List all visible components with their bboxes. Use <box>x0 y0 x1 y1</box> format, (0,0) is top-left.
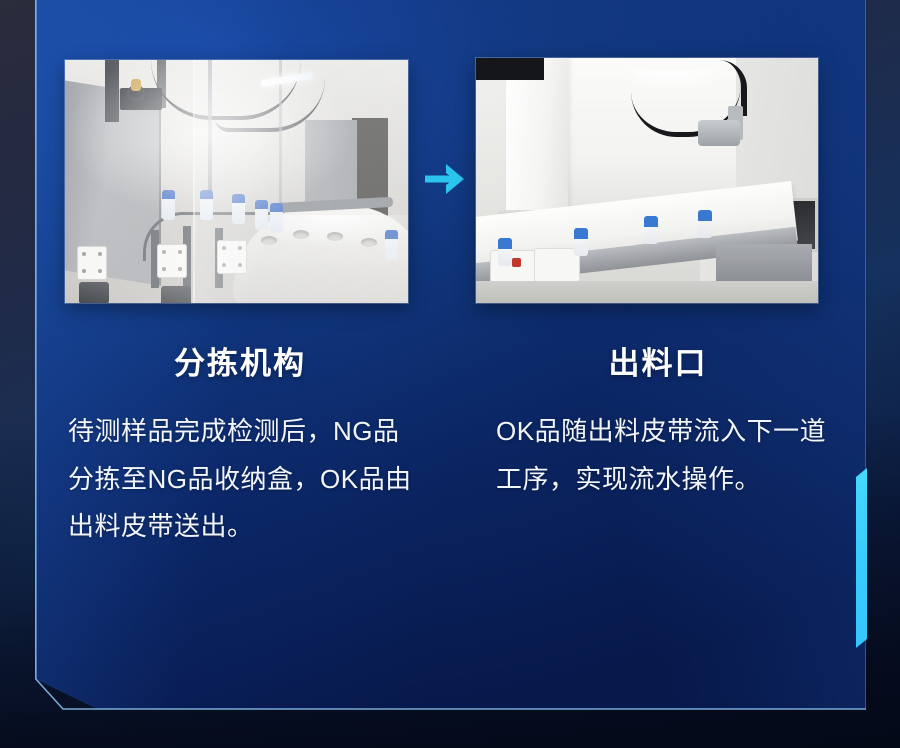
card-discharge-port: 出料口 OK品随出料皮带流入下一道工序，实现流水操作。 <box>478 345 838 503</box>
card-body-sorting-mechanism: 待测样品完成检测后，NG品分拣至NG品收纳盒，OK品由出料皮带送出。 <box>60 408 420 550</box>
accent-bar-cyan <box>856 468 867 648</box>
page-root: 分拣机构 待测样品完成检测后，NG品分拣至NG品收纳盒，OK品由出料皮带送出。 … <box>0 0 900 748</box>
card-title-discharge-port: 出料口 <box>478 345 838 382</box>
card-sorting-mechanism: 分拣机构 待测样品完成检测后，NG品分拣至NG品收纳盒，OK品由出料皮带送出。 <box>60 345 420 550</box>
photo-sorting-mechanism <box>65 60 408 303</box>
photo-discharge-port <box>476 58 818 303</box>
card-body-discharge-port: OK品随出料皮带流入下一道工序，实现流水操作。 <box>478 408 838 503</box>
arrow-right-icon <box>421 155 469 203</box>
card-title-sorting-mechanism: 分拣机构 <box>60 345 420 382</box>
